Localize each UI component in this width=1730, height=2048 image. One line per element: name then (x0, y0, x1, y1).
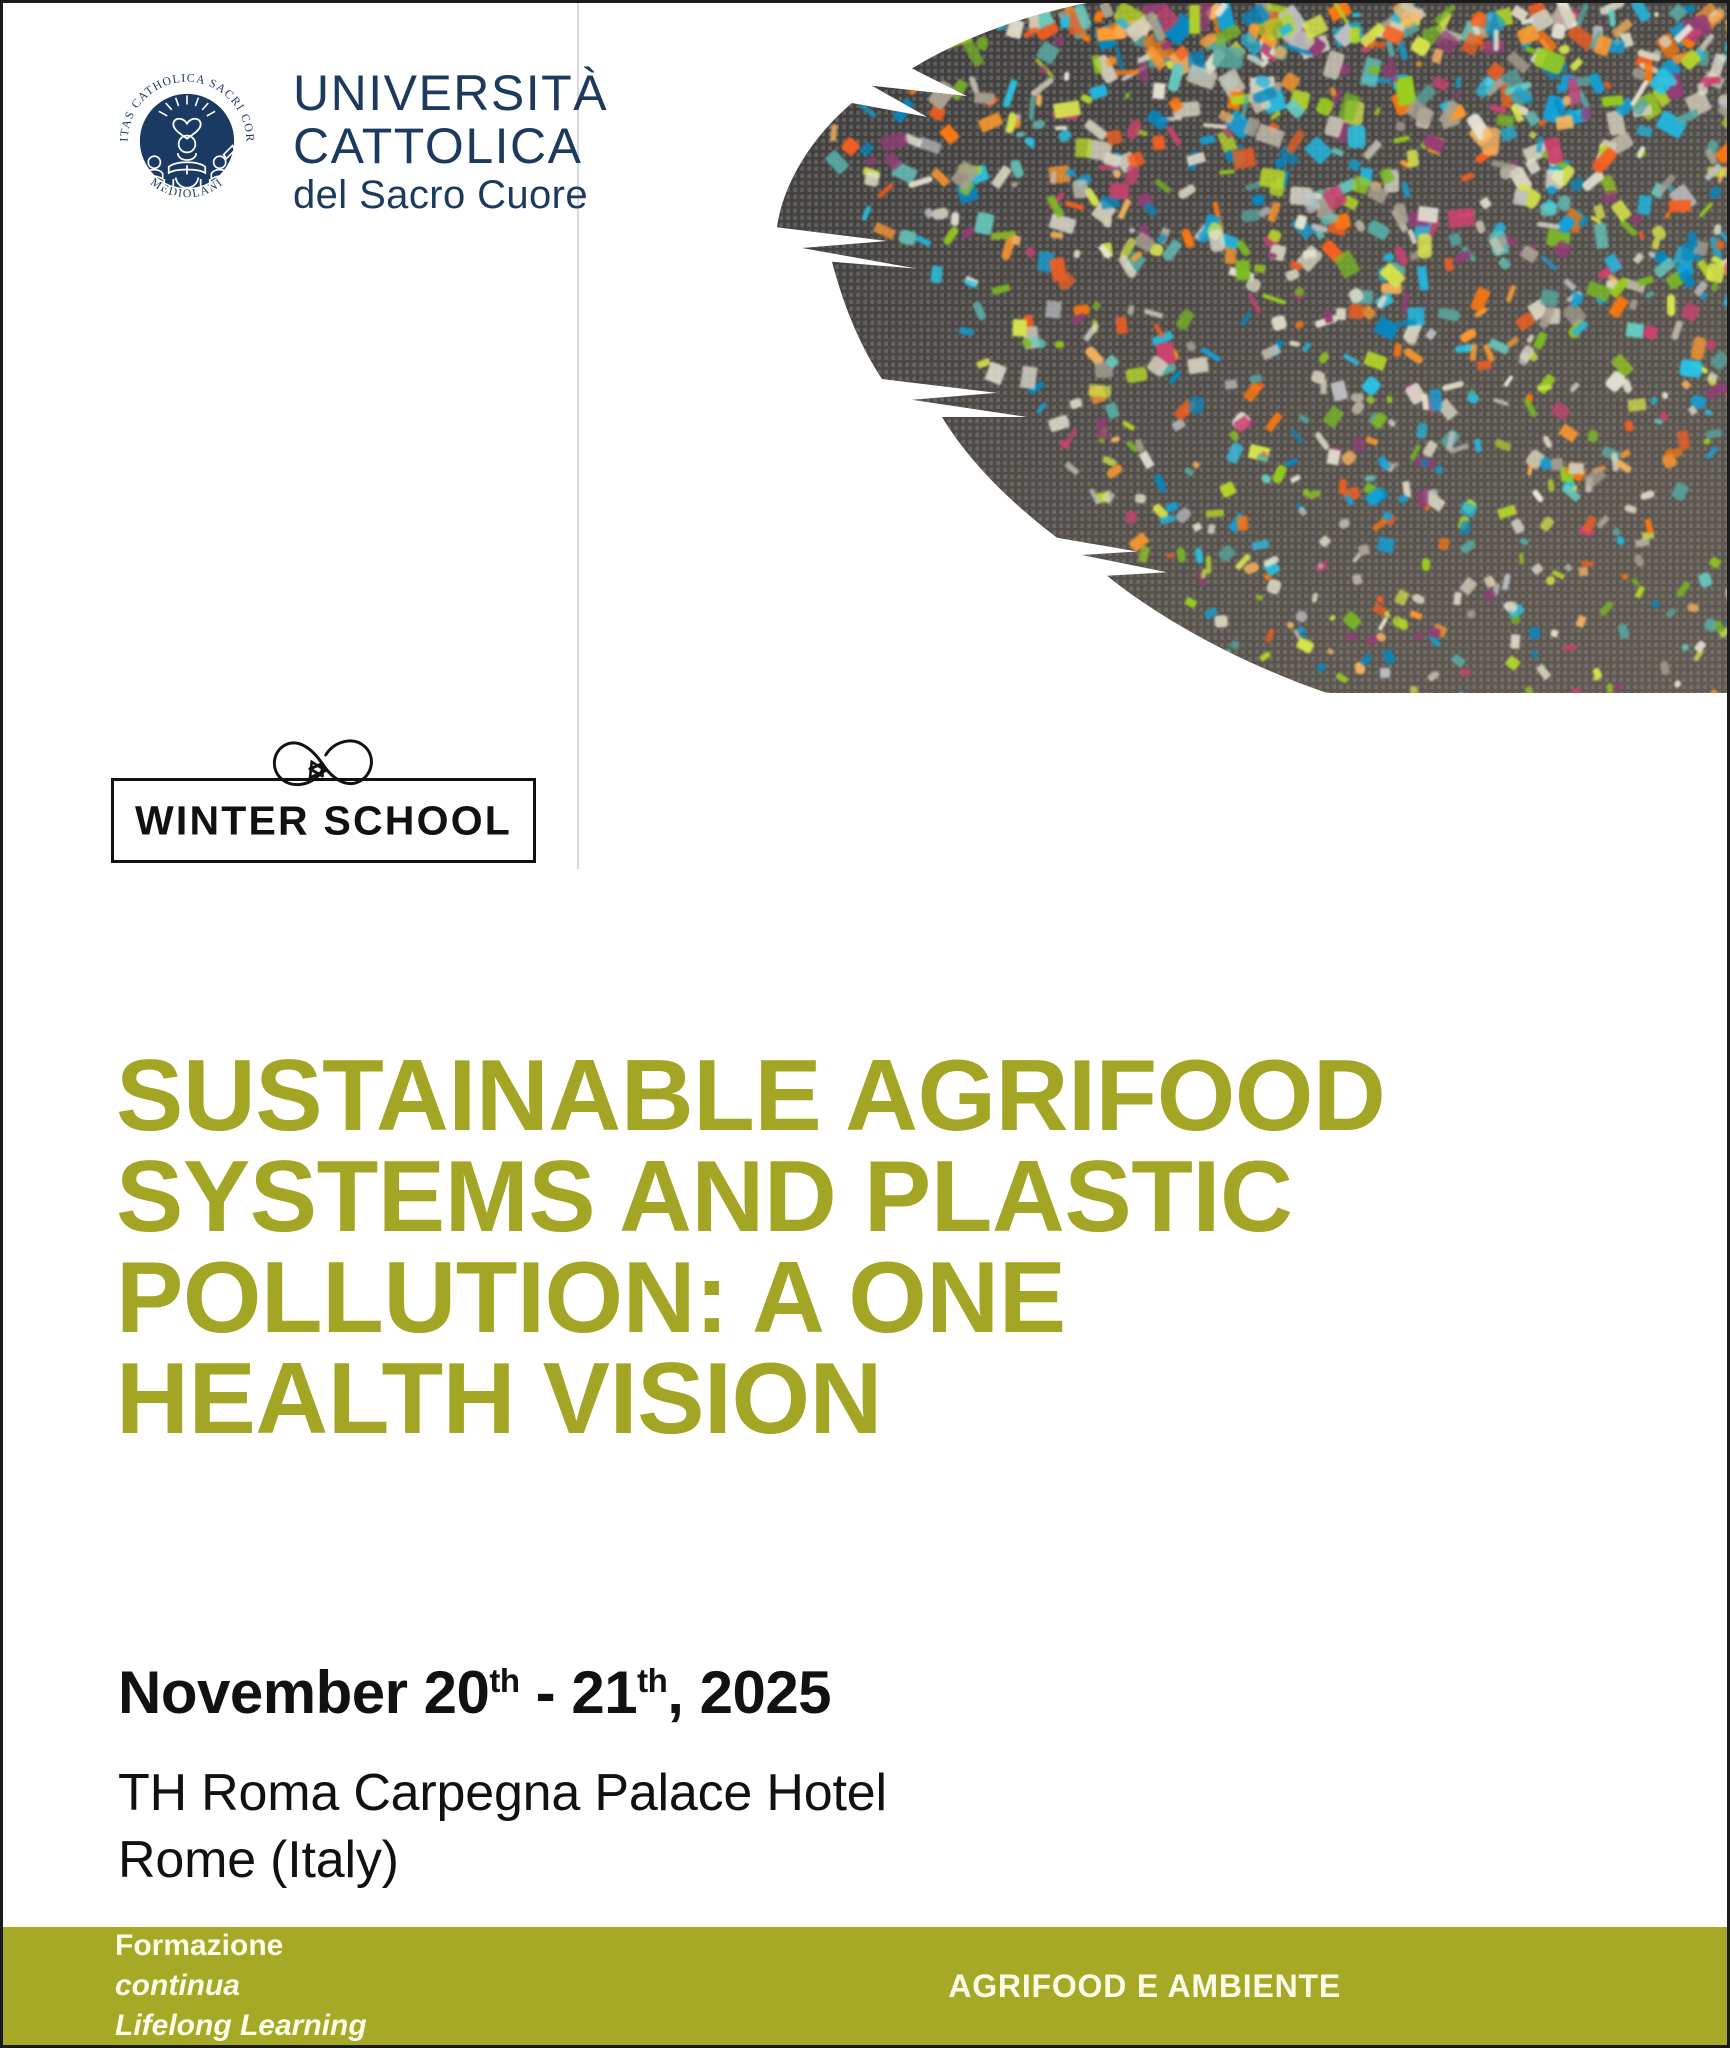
title-line-2: SYSTEMS AND PLASTIC (116, 1147, 1626, 1248)
event-date-ordinal-2: th (637, 1662, 667, 1699)
infinity-recycle-icon (254, 725, 394, 797)
microplastic-flakes (727, 3, 1727, 693)
footer-line-1: Formazione continua (115, 1926, 367, 2006)
university-line-2: CATTOLICA (293, 121, 608, 171)
poster-page: UNIVERSITAS CATHOLICA SACRI CORDIS JESU … (0, 0, 1730, 2048)
title-line-1: SUSTAINABLE AGRIFOOD (116, 1046, 1626, 1147)
footer-lifelong-learning: Formazione continua Lifelong Learning (115, 1926, 367, 2046)
footer-line-2: Lifelong Learning (115, 2006, 367, 2046)
microplastics-photo (727, 3, 1727, 693)
footer-formazione: Formazione (115, 1926, 367, 1966)
university-logo: UNIVERSITAS CATHOLICA SACRI CORDIS JESU … (111, 65, 608, 217)
event-date-suffix: , 2025 (667, 1659, 831, 1726)
event-venue: TH Roma Carpegna Palace Hotel Rome (Ital… (118, 1760, 887, 1893)
title-line-4: HEALTH VISION (116, 1349, 1626, 1450)
venue-line-1: TH Roma Carpegna Palace Hotel (118, 1760, 887, 1827)
winter-school-label: WINTER SCHOOL (114, 797, 533, 844)
page-title: SUSTAINABLE AGRIFOOD SYSTEMS AND PLASTIC… (116, 1046, 1626, 1450)
university-line-1: UNIVERSITÀ (293, 68, 608, 118)
footer-bar: Formazione continua Lifelong Learning AG… (3, 1927, 1727, 2045)
hero-image-container (727, 3, 1727, 693)
winter-school-badge-notch (797, 776, 933, 783)
event-date-prefix: November 20 (118, 1659, 489, 1726)
university-line-3: del Sacro Cuore (293, 175, 608, 215)
event-date: November 20th - 21th, 2025 (118, 1658, 831, 1727)
title-line-3: POLLUTION: A ONE (116, 1248, 1626, 1349)
university-crest-icon: UNIVERSITAS CATHOLICA SACRI CORDIS JESU … (111, 65, 263, 217)
event-date-ordinal-1: th (489, 1662, 519, 1699)
footer-program-label: AGRIFOOD E AMBIENTE (948, 1968, 1341, 2005)
event-date-mid: - 21 (520, 1659, 638, 1726)
footer-continua: continua (115, 1969, 240, 2002)
venue-line-2: Rome (Italy) (118, 1827, 887, 1894)
university-wordmark: UNIVERSITÀ CATTOLICA del Sacro Cuore (293, 68, 608, 215)
